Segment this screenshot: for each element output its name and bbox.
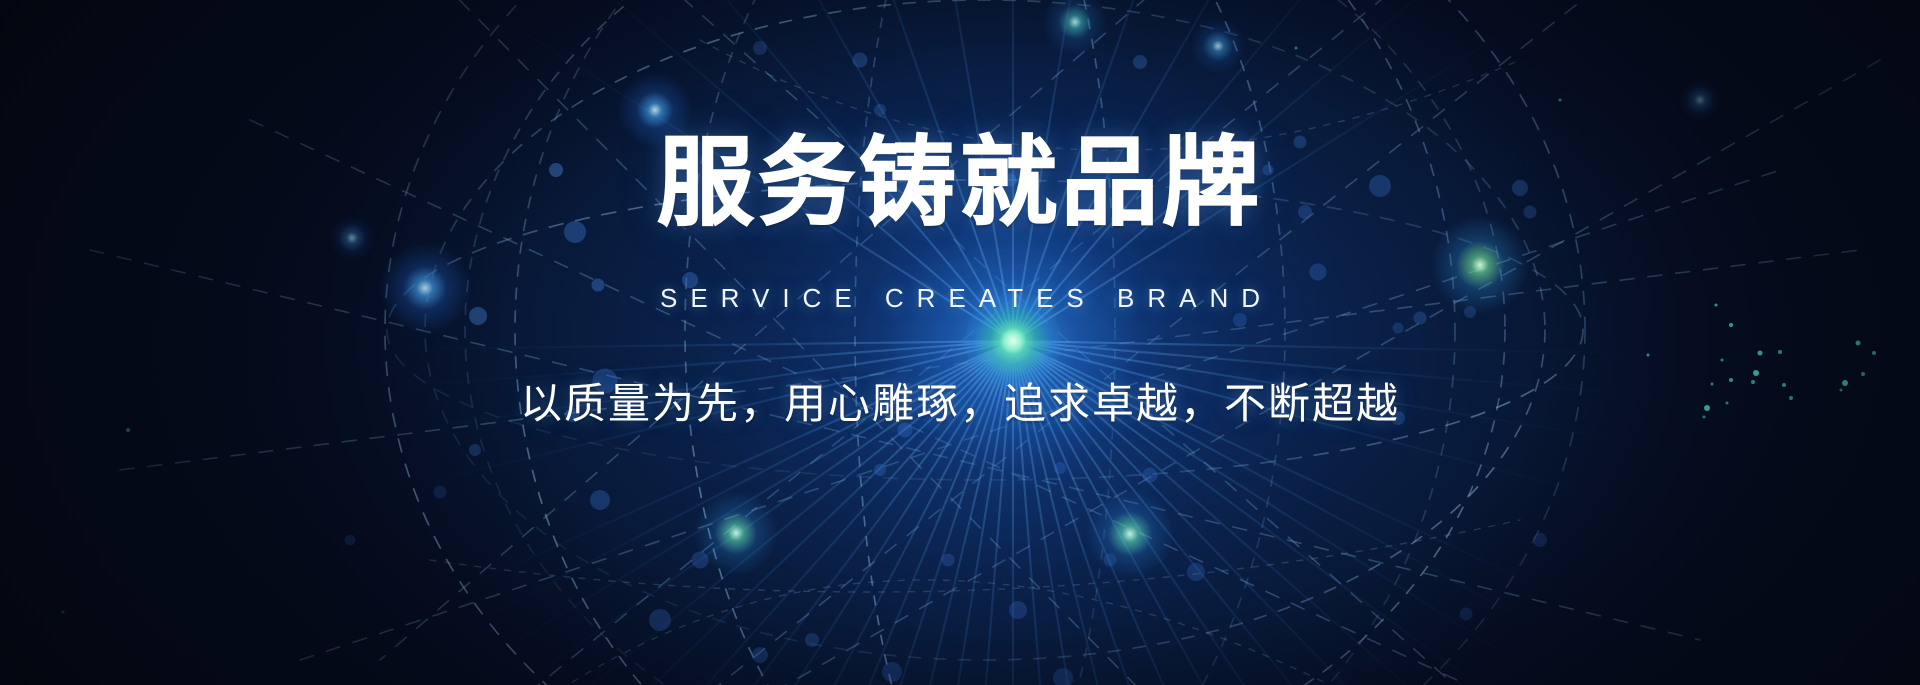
- hero-banner: 服务铸就品牌 SERVICE CREATES BRAND 以质量为先，用心雕琢，…: [0, 0, 1920, 685]
- banner-tagline: 以质量为先，用心雕琢，追求卓越，不断超越: [0, 370, 1920, 431]
- page-title: 服务铸就品牌: [0, 132, 1920, 235]
- banner-subtitle: SERVICE CREATES BRAND: [0, 283, 1920, 314]
- banner-content: 服务铸就品牌 SERVICE CREATES BRAND 以质量为先，用心雕琢，…: [0, 0, 1920, 685]
